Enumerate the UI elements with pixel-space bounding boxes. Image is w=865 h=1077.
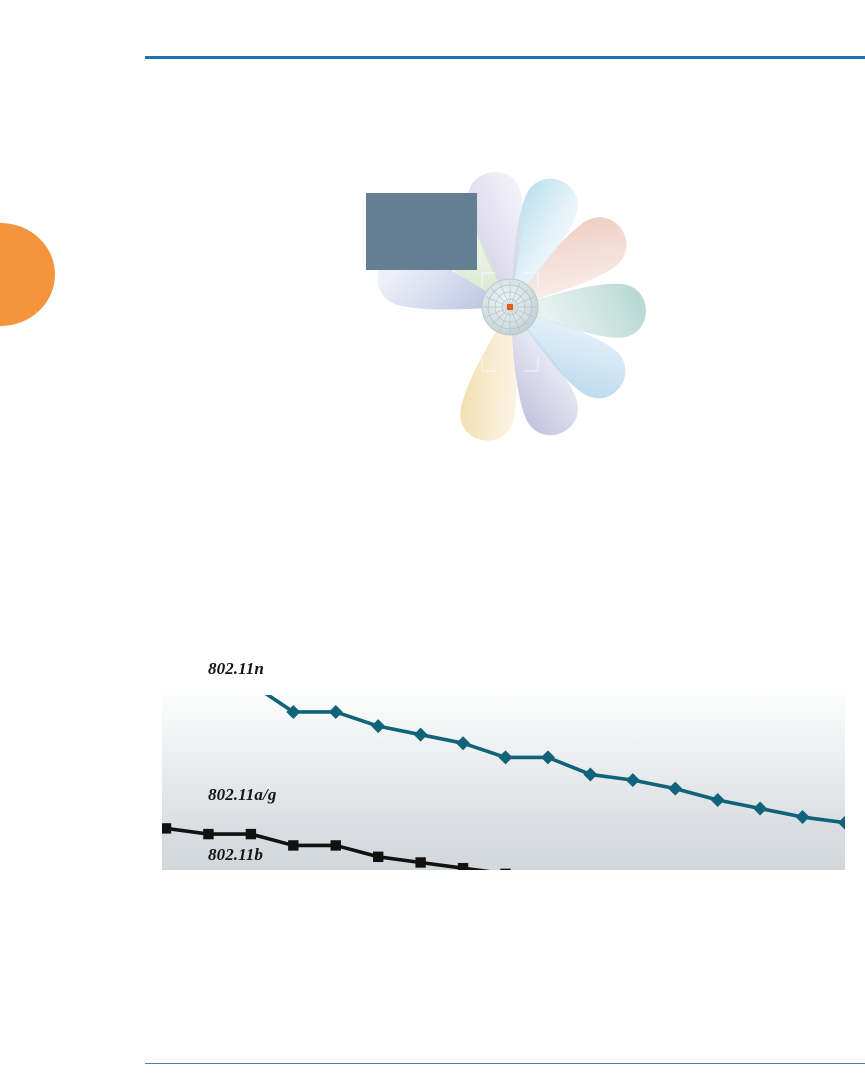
chart-data-point (753, 802, 767, 816)
access-point-hub (482, 279, 538, 335)
chart-data-point (796, 810, 810, 824)
chart-data-point (583, 767, 597, 781)
chart-data-point (371, 719, 385, 733)
figure-callout-box (366, 193, 477, 270)
series-label-802-11n: 802.11n (208, 659, 264, 679)
document-page: 802.11n 802.11a/g 802.11b (0, 0, 865, 1077)
chart-data-point (668, 782, 682, 796)
chart-series-802-11n (162, 695, 845, 830)
chart-data-point (500, 869, 510, 870)
chart-data-point (456, 736, 470, 750)
throughput-vs-distance-chart (162, 695, 845, 870)
chart-series-line (166, 828, 845, 870)
footer-rule (145, 1063, 865, 1064)
chart-series-802-11a-g (162, 823, 845, 870)
chart-data-point (246, 829, 256, 839)
chart-data-point (626, 773, 640, 787)
chart-data-point (415, 857, 425, 867)
chart-data-point (499, 750, 513, 764)
chart-plot-area (162, 695, 845, 870)
series-label-802-11b: 802.11b (208, 845, 263, 865)
series-label-802-11ag: 802.11a/g (208, 785, 276, 805)
chart-data-point (458, 863, 468, 870)
chapter-tab-marker (0, 223, 55, 326)
chart-data-point (838, 816, 845, 830)
chart-data-point (711, 793, 725, 807)
chart-series-layer (162, 695, 845, 870)
hub-center-dot (507, 304, 513, 310)
chart-data-point (288, 840, 298, 850)
header-rule (145, 56, 865, 59)
chart-data-point (373, 852, 383, 862)
chart-data-point (541, 750, 555, 764)
chart-data-point (414, 728, 428, 742)
chart-data-point (331, 840, 341, 850)
chart-data-point (162, 823, 171, 833)
chart-data-point (329, 705, 343, 719)
chart-data-point (203, 829, 213, 839)
